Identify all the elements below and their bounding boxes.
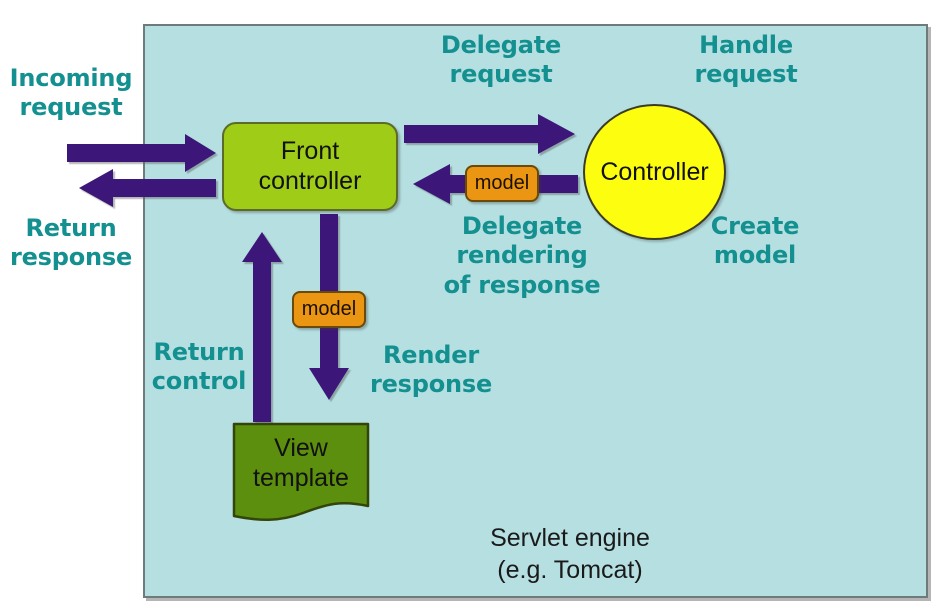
label-delegate-rendering-of-response: Delegate rendering of response — [422, 212, 622, 300]
label-handle-request: Handle request — [661, 31, 831, 90]
label-delegate-request: Delegate request — [412, 31, 590, 90]
label-render-response: Render response — [358, 341, 504, 400]
diagram-canvas: Front controller Controller View templat… — [0, 0, 941, 611]
label-incoming-request: Incoming request — [0, 64, 144, 123]
label-return-control: Return control — [142, 338, 256, 397]
label-return-response: Return response — [0, 214, 144, 273]
view-template-label: View template — [231, 434, 371, 493]
servlet-engine-caption: Servlet engine (e.g. Tomcat) — [420, 522, 720, 586]
node-view-template[interactable]: View template — [231, 420, 371, 525]
model-badge-horizontal[interactable]: model — [465, 165, 539, 202]
model-badge-vertical[interactable]: model — [292, 291, 366, 328]
node-front-controller[interactable]: Front controller — [222, 122, 398, 211]
label-create-model: Create model — [679, 212, 831, 271]
